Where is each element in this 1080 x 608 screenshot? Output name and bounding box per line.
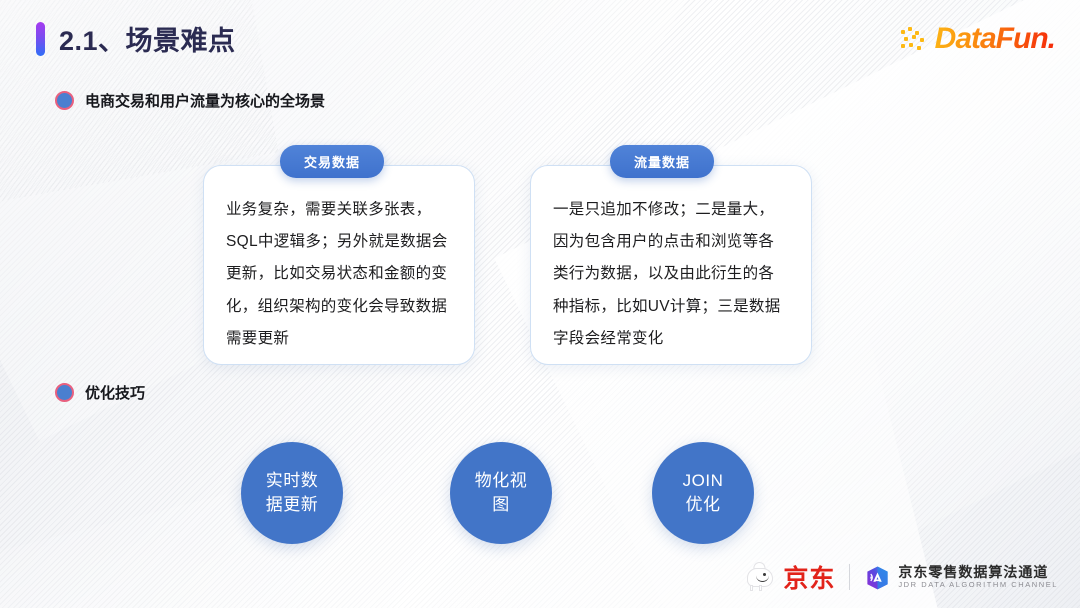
circle-1-line2: 据更新 (254, 493, 331, 517)
bullet-optimization-row: 优化技巧 (55, 382, 145, 403)
channel-name-cn: 京东零售数据算法通道 (898, 565, 1058, 580)
jd-brand-text: 京东 (783, 559, 835, 595)
channel-name-en: JDR DATA ALGORITHM CHANNEL (898, 581, 1058, 589)
jd-logo: 京东 (743, 559, 835, 595)
slide-canvas: 2.1、场景难点 DataFun. 电商交易和用户流量为核心的全场景 优化技巧 … (0, 0, 1080, 608)
badge-traffic-data: 流量数据 (610, 145, 714, 178)
page-title: 2.1、场景难点 (59, 19, 236, 58)
circle-2-line1: 物化视 (463, 469, 540, 493)
circle-3-line2: 优化 (671, 493, 736, 517)
datafun-logo: DataFun. (901, 22, 1055, 56)
circle-materialized-view: 物化视 图 (450, 442, 552, 544)
bullet-dot-icon (55, 91, 74, 110)
card-transaction-data: 业务复杂，需要关联多张表，SQL中逻辑多；另外就是数据会更新，比如交易状态和金额… (203, 165, 475, 365)
datafun-logo-text: DataFun. (935, 22, 1055, 56)
card-traffic-data: 一是只追加不修改；二是量大，因为包含用户的点击和浏览等各类行为数据，以及由此衍生… (530, 165, 812, 365)
bullet-label-optimization: 优化技巧 (85, 382, 145, 403)
circle-3-line1: JOIN (671, 469, 736, 493)
circle-join-optimization: JOIN 优化 (652, 442, 754, 544)
footer-divider (849, 564, 850, 590)
title-accent-bar (36, 22, 45, 56)
card-traffic-body: 一是只追加不修改；二是量大，因为包含用户的点击和浏览等各类行为数据，以及由此衍生… (531, 166, 811, 375)
bullet-scope-row: 电商交易和用户流量为核心的全场景 (55, 90, 325, 111)
circle-1-line1: 实时数 (254, 469, 331, 493)
jd-dog-mascot-icon (743, 562, 777, 592)
page-title-row: 2.1、场景难点 (36, 19, 236, 58)
bullet-dot-icon (55, 383, 74, 402)
card-transaction-body: 业务复杂，需要关联多张表，SQL中逻辑多；另外就是数据会更新，比如交易状态和金额… (204, 166, 474, 375)
circle-2-line2: 图 (463, 493, 540, 517)
channel-logo: 京东零售数据算法通道 JDR DATA ALGORITHM CHANNEL (864, 564, 1058, 591)
footer-logos: 京东 京东零售数据算法通道 JDR DATA ALG (743, 559, 1058, 595)
channel-book-icon (864, 564, 891, 591)
circle-realtime-update: 实时数 据更新 (241, 442, 343, 544)
bullet-label-scope: 电商交易和用户流量为核心的全场景 (85, 90, 325, 111)
datafun-dots-icon (901, 26, 931, 52)
channel-text-block: 京东零售数据算法通道 JDR DATA ALGORITHM CHANNEL (898, 565, 1058, 590)
badge-transaction-data: 交易数据 (280, 145, 384, 178)
